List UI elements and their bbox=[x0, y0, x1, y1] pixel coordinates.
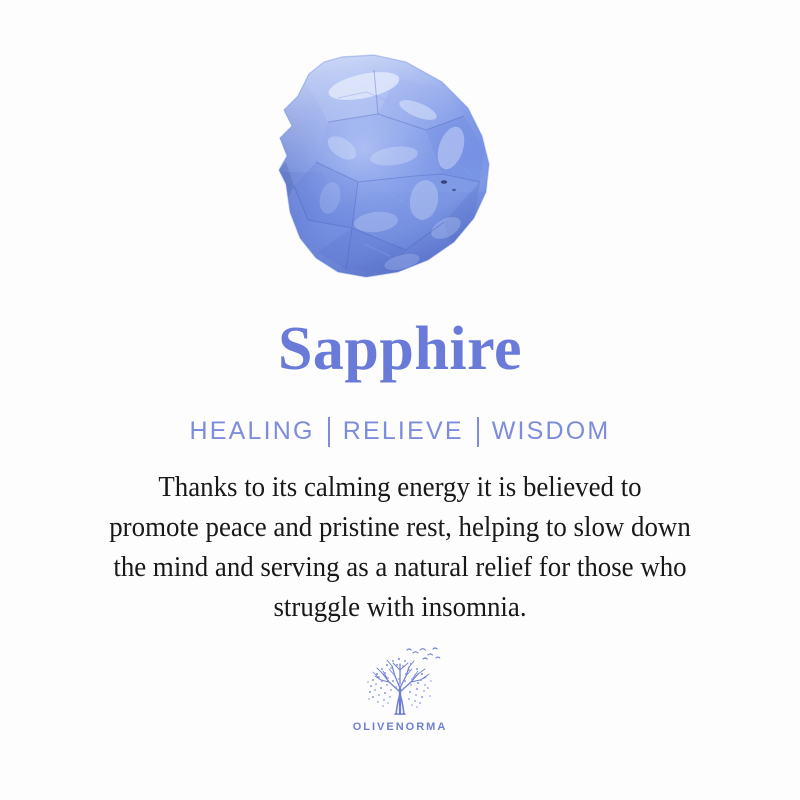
gemstone-info-card: Sapphire HEALING RELIEVE WISDOM Thanks t… bbox=[0, 0, 800, 800]
brand-logo: OLIVENORMA bbox=[353, 644, 448, 733]
keyword-separator-icon bbox=[328, 417, 330, 447]
brand-wordmark: OLIVENORMA bbox=[353, 721, 448, 733]
tree-trunk-and-branches bbox=[373, 660, 429, 714]
rough-sapphire-crystal-image bbox=[246, 52, 508, 294]
description-line: struggle with insomnia. bbox=[45, 588, 755, 628]
birds-icon bbox=[407, 648, 440, 659]
description-line: Thanks to its calming energy it is belie… bbox=[45, 468, 755, 508]
stone-body bbox=[246, 52, 508, 294]
tree-with-birds-icon bbox=[357, 644, 443, 720]
keyword-relieve: RELIEVE bbox=[343, 419, 464, 444]
keyword-wisdom: WISDOM bbox=[492, 419, 611, 444]
keyword-list: HEALING RELIEVE WISDOM bbox=[190, 416, 611, 446]
description-text: Thanks to its calming energy it is belie… bbox=[45, 468, 755, 628]
keyword-separator-icon bbox=[477, 417, 479, 447]
description-line: promote peace and pristine rest, helping… bbox=[45, 508, 755, 548]
keyword-healing: HEALING bbox=[190, 419, 315, 444]
description-line: the mind and serving as a natural relief… bbox=[45, 548, 755, 588]
stone-inclusion bbox=[452, 189, 456, 191]
page-title: Sapphire bbox=[278, 318, 522, 390]
hero-image-area bbox=[0, 0, 800, 318]
stone-inclusion bbox=[441, 180, 447, 184]
